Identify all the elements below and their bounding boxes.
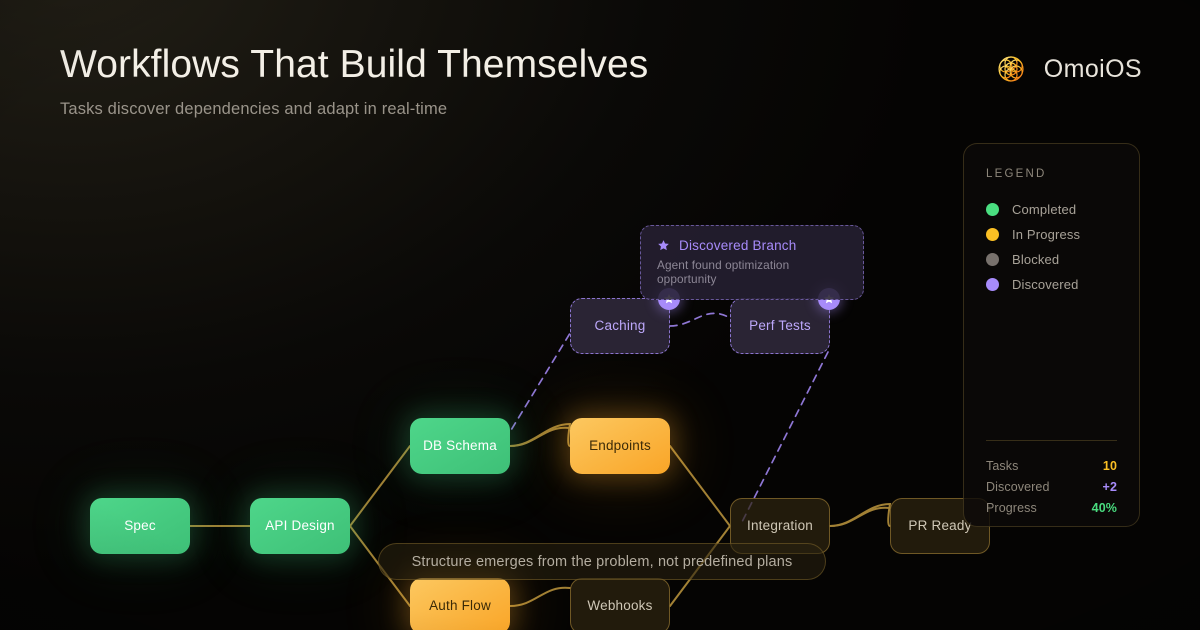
stat-value: 40% <box>1092 501 1117 515</box>
legend-item-label: Blocked <box>1012 252 1059 267</box>
node-db-schema[interactable]: DB Schema <box>410 418 510 474</box>
stat-tasks: Tasks 10 <box>986 455 1117 476</box>
status-dot-in-progress <box>986 228 999 241</box>
legend-item-completed: Completed <box>986 197 1117 222</box>
legend-item-discovered: Discovered <box>986 272 1117 297</box>
legend-stats: Tasks 10 Discovered +2 Progress 40% <box>986 455 1117 518</box>
edge-caching-perf-tests <box>670 313 730 326</box>
node-perf-tests[interactable]: Perf Tests <box>730 298 830 354</box>
node-spec[interactable]: Spec <box>90 498 190 554</box>
stat-value: +2 <box>1103 480 1117 494</box>
stat-label: Discovered <box>986 480 1050 494</box>
node-label: Perf Tests <box>749 318 811 334</box>
legend-item-blocked: Blocked <box>986 247 1117 272</box>
edge-api-design-db-schema <box>350 446 410 526</box>
node-label: Endpoints <box>589 438 651 454</box>
stat-label: Tasks <box>986 459 1018 473</box>
node-label: Auth Flow <box>429 598 491 614</box>
stat-value: 10 <box>1103 459 1117 473</box>
node-label: API Design <box>265 518 335 534</box>
status-dot-discovered <box>986 278 999 291</box>
node-label: Spec <box>124 518 156 534</box>
infographic-canvas: Workflows That Build Themselves Tasks di… <box>0 0 1200 630</box>
status-dot-completed <box>986 203 999 216</box>
stat-progress: Progress 40% <box>986 497 1117 518</box>
edge-auth-flow-webhooks <box>510 588 570 606</box>
node-label: Integration <box>747 518 813 534</box>
edge-integration-pr-ready-2 <box>830 508 890 526</box>
legend-divider <box>986 440 1117 441</box>
stat-label: Progress <box>986 501 1037 515</box>
discovered-branch-title: Discovered Branch <box>679 238 796 253</box>
star-icon <box>657 239 670 252</box>
caption-banner: Structure emerges from the problem, not … <box>378 543 826 580</box>
legend-title: LEGEND <box>986 168 1117 180</box>
legend-item-label: In Progress <box>1012 227 1080 242</box>
edge-perf-tests-integration <box>742 352 828 522</box>
node-label: PR Ready <box>908 518 971 534</box>
caption-text: Structure emerges from the problem, not … <box>412 554 793 570</box>
legend-items: Completed In Progress Blocked Discovered <box>986 197 1117 297</box>
node-endpoints[interactable]: Endpoints <box>570 418 670 474</box>
legend-item-label: Completed <box>1012 202 1076 217</box>
discovered-branch-card: Discovered Branch Agent found optimizati… <box>640 225 864 300</box>
node-label: DB Schema <box>423 438 497 454</box>
node-label: Caching <box>595 318 646 334</box>
legend-item-label: Discovered <box>1012 277 1079 292</box>
node-label: Webhooks <box>587 598 652 614</box>
legend-item-in-progress: In Progress <box>986 222 1117 247</box>
edge-db-schema-endpoints-2 <box>510 428 570 446</box>
status-dot-blocked <box>986 253 999 266</box>
edge-db-schema-caching <box>505 330 572 440</box>
stat-discovered: Discovered +2 <box>986 476 1117 497</box>
discovered-branch-header: Discovered Branch <box>657 238 847 253</box>
edge-endpoints-integration <box>670 446 730 526</box>
node-api-design[interactable]: API Design <box>250 498 350 554</box>
node-auth-flow[interactable]: Auth Flow <box>410 578 510 630</box>
legend-panel: LEGEND Completed In Progress Blocked Dis… <box>963 143 1140 527</box>
node-webhooks[interactable]: Webhooks <box>570 578 670 630</box>
discovered-branch-subtitle: Agent found optimization opportunity <box>657 258 847 286</box>
node-caching[interactable]: Caching <box>570 298 670 354</box>
